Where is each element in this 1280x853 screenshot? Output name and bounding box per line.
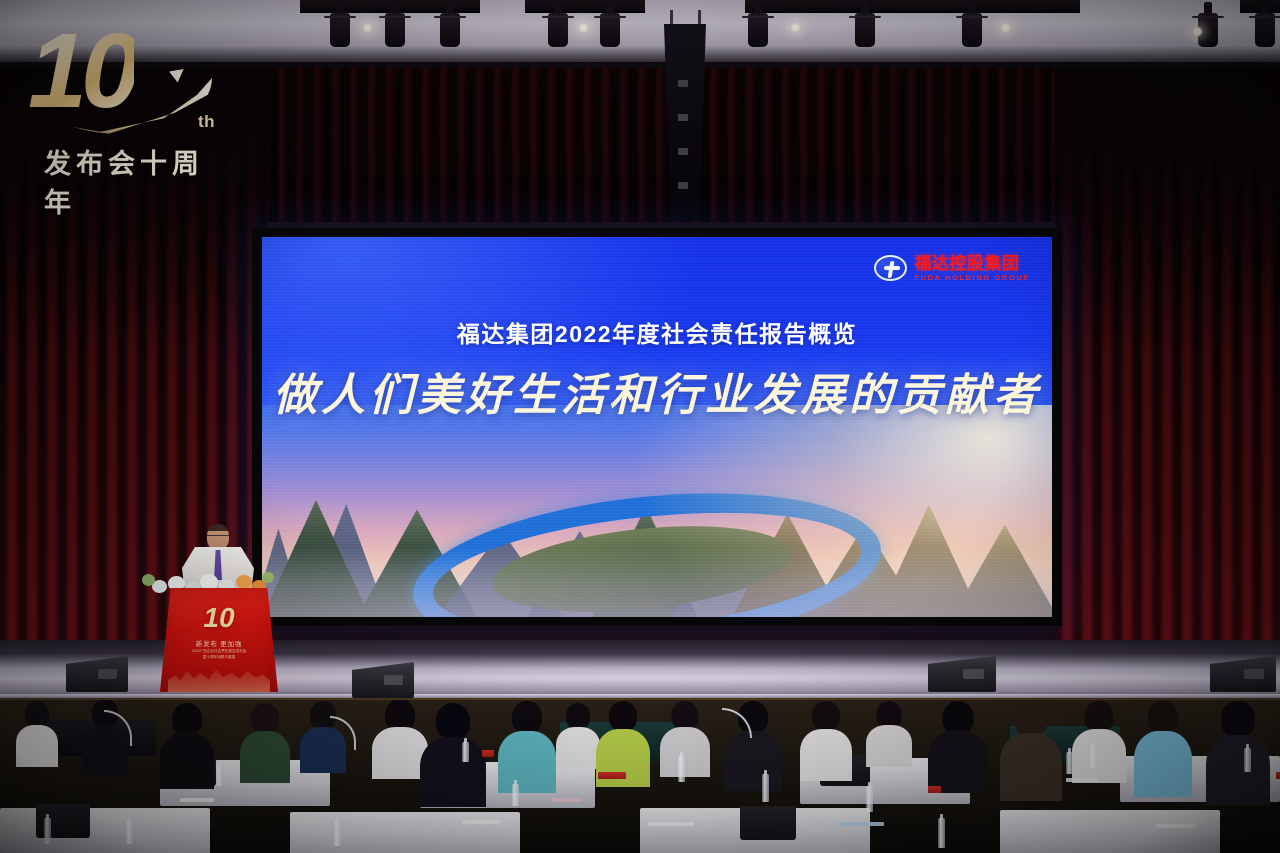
torso	[1206, 735, 1270, 805]
head	[1015, 701, 1048, 736]
head	[25, 701, 49, 727]
audience-member	[928, 701, 988, 793]
stage-light-icon	[548, 13, 568, 47]
audience-member	[498, 701, 556, 793]
brand-logo: 福达控股集团 FUDA HOLDING GROUP	[874, 255, 1030, 282]
audience-area	[0, 700, 1280, 853]
water-bottle	[462, 742, 469, 762]
curtain-shadow-right	[1055, 52, 1280, 352]
head	[609, 701, 637, 731]
flower	[262, 572, 274, 583]
head	[877, 701, 902, 728]
torso	[1134, 731, 1192, 797]
water-bottle	[938, 818, 945, 848]
red-folder	[482, 750, 494, 757]
flower	[236, 575, 252, 589]
stage-light-icon	[962, 13, 982, 47]
speaker-driver	[678, 182, 688, 189]
table-row	[0, 808, 210, 853]
audience-member	[1072, 701, 1126, 783]
led-screen-surface: 福达控股集团 FUDA HOLDING GROUP 福达集团2022年度社会责任…	[262, 237, 1052, 617]
document	[1156, 824, 1196, 828]
audience-member	[240, 703, 290, 783]
water-bottle	[44, 818, 51, 844]
brand-name-english: FUDA HOLDING GROUP	[914, 274, 1030, 282]
lighting-truss	[525, 0, 645, 13]
head	[512, 701, 542, 733]
red-folder	[1276, 772, 1280, 779]
podium-subtext-line1: 2023广西企业社会责任报告发布会	[160, 649, 278, 654]
torso	[498, 731, 556, 793]
audience-member	[1000, 701, 1062, 801]
torso	[160, 733, 214, 789]
speaker-grill	[98, 669, 117, 679]
water-bottle	[762, 774, 769, 802]
slide-subtitle: 福达集团2022年度社会责任报告概览	[262, 315, 1052, 349]
podium: 10 新发布 更加強 2023广西企业社会责任报告发布会 暨十周年回顾与展望	[160, 588, 278, 692]
stage-light-icon	[600, 13, 620, 47]
karst-landscape-image	[262, 405, 1052, 617]
podium-subtext-line2: 暨十周年回顾与展望	[160, 655, 278, 660]
glasses-icon	[207, 535, 229, 539]
flower	[142, 574, 155, 586]
torso	[724, 731, 782, 791]
speaker-driver	[678, 80, 688, 87]
document	[648, 822, 694, 826]
torso	[556, 727, 600, 769]
speaker-driver	[678, 148, 688, 155]
landscape-mist	[262, 547, 1052, 617]
chair-back	[740, 806, 796, 840]
red-folder	[598, 772, 626, 779]
water-bottle	[126, 820, 133, 844]
water-bottle	[1090, 744, 1097, 768]
stage-light-icon	[1255, 13, 1275, 47]
rigging-wire	[670, 10, 673, 26]
head	[1085, 701, 1114, 732]
audience-member	[800, 701, 852, 781]
torso	[420, 737, 486, 807]
torso	[800, 729, 852, 781]
torso	[866, 725, 912, 767]
podium-skyline-graphic	[168, 662, 270, 692]
audience-member	[556, 703, 600, 769]
podium-anniversary-mark: 10	[160, 602, 278, 634]
ceiling-downlight-icon	[578, 22, 589, 33]
speaker-grill	[963, 669, 983, 679]
water-bottle	[1066, 752, 1073, 774]
watermark-number: 10	[28, 18, 134, 124]
torso	[1000, 733, 1062, 801]
speaker-grill	[1244, 669, 1264, 679]
line-array-speaker	[656, 24, 712, 256]
red-folder	[928, 786, 941, 793]
document	[840, 822, 884, 826]
stage-curtain-right	[1055, 52, 1280, 672]
head	[812, 701, 840, 731]
ceiling-downlight-icon	[362, 22, 373, 33]
water-bottle	[512, 784, 519, 806]
head	[672, 701, 699, 730]
head	[943, 701, 974, 734]
stage-light-icon	[748, 13, 768, 47]
document	[180, 798, 214, 802]
ceiling-downlight-icon	[1192, 26, 1203, 37]
watermark-ordinal: th	[198, 112, 215, 132]
water-bottle	[678, 756, 685, 782]
torso	[16, 725, 58, 767]
stage-light-icon	[330, 13, 350, 47]
rigging-wire	[698, 10, 701, 26]
conference-stage-photograph: 福达控股集团 FUDA HOLDING GROUP 福达集团2022年度社会责任…	[0, 0, 1280, 853]
head	[1221, 701, 1255, 737]
stage-light-icon	[855, 13, 875, 47]
audience-member	[866, 701, 912, 767]
led-screen: 福达控股集团 FUDA HOLDING GROUP 福达集团2022年度社会责任…	[252, 228, 1062, 626]
lighting-truss	[745, 0, 1080, 13]
torso	[928, 731, 988, 793]
head	[251, 703, 279, 733]
brand-logo-text: 福达控股集团 FUDA HOLDING GROUP	[914, 255, 1030, 282]
torso	[1072, 729, 1126, 783]
water-bottle	[866, 786, 873, 812]
head	[172, 703, 202, 735]
audience-member	[16, 701, 58, 767]
stage-light-icon	[440, 13, 460, 47]
water-bottle	[1244, 748, 1251, 772]
audience-member	[660, 701, 710, 777]
water-bottle	[334, 820, 341, 846]
document	[1066, 778, 1098, 782]
flower	[200, 574, 218, 590]
podium-slogan: 新发布 更加強	[160, 638, 278, 648]
document	[462, 820, 500, 824]
ceiling-downlight-icon	[1000, 22, 1011, 33]
watermark-arrow-icon	[169, 63, 188, 82]
audience-member	[160, 703, 214, 789]
table-row	[1000, 810, 1220, 853]
audience-member	[1134, 701, 1192, 797]
brand-name-chinese: 福达控股集团	[914, 255, 1030, 272]
ceiling-downlight-icon	[790, 22, 801, 33]
torso	[240, 731, 290, 783]
audience-member	[1206, 701, 1270, 805]
head	[566, 703, 590, 729]
watermark-caption: 发布会十周年	[44, 142, 227, 220]
table-row	[290, 812, 520, 853]
document	[552, 798, 582, 802]
fuda-emblem-icon	[874, 255, 907, 281]
speaker-driver	[678, 114, 688, 121]
audience-member	[420, 703, 486, 807]
slide-title: 做人们美好生活和行业发展的贡献者	[262, 359, 1052, 423]
lighting-truss	[1240, 0, 1280, 13]
podium-body: 10 新发布 更加強 2023广西企业社会责任报告发布会 暨十周年回顾与展望	[160, 588, 278, 692]
torso	[660, 727, 710, 777]
speaker-grill	[384, 675, 403, 685]
speaker-cabinet	[664, 24, 706, 220]
anniversary-watermark: 10 th 发布会十周年	[22, 18, 227, 168]
stage-light-icon	[385, 13, 405, 47]
water-bottle	[216, 764, 223, 786]
head	[1148, 701, 1178, 733]
head	[436, 703, 470, 739]
